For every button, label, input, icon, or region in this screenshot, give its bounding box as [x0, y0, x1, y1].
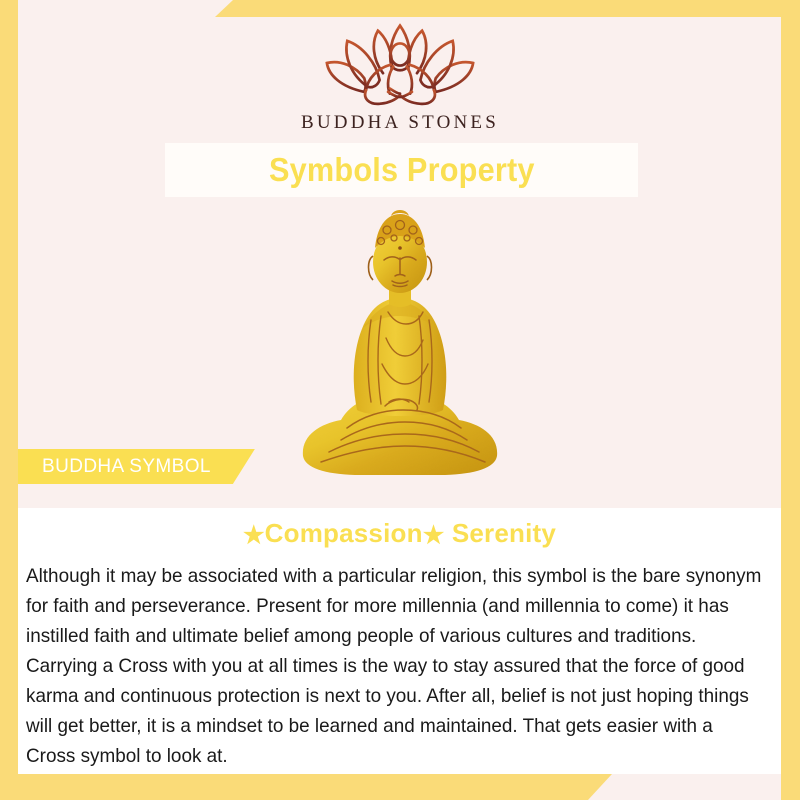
headline-word-compassion: Compassion [265, 518, 423, 548]
title-banner: Symbols Property [165, 143, 638, 197]
brand-name: BUDDHA STONES [301, 112, 499, 134]
buddha-symbol-tag-label: BUDDHA SYMBOL [42, 456, 211, 478]
page-title: Symbols Property [269, 151, 535, 189]
seated-golden-buddha-statue-icon [285, 200, 515, 490]
decorative-top-bar [215, 0, 800, 17]
content-headline: ★Compassion★ Serenity [18, 518, 781, 550]
buddha-symbol-tag: BUDDHA SYMBOL [18, 449, 255, 484]
description-paragraph: Although it may be associated with a par… [26, 562, 762, 772]
star-icon-1: ★ [243, 522, 265, 549]
headline-word-serenity: Serenity [452, 518, 556, 548]
description-card: ★Compassion★ Serenity Although it may be… [18, 508, 781, 774]
poster-canvas: BUDDHA STONES Symbols Property [0, 0, 800, 800]
brand-header: BUDDHA STONES [0, 20, 800, 134]
lotus-meditation-icon [315, 20, 485, 106]
star-icon-2: ★ [423, 522, 445, 549]
decorative-bottom-bar [0, 774, 612, 800]
